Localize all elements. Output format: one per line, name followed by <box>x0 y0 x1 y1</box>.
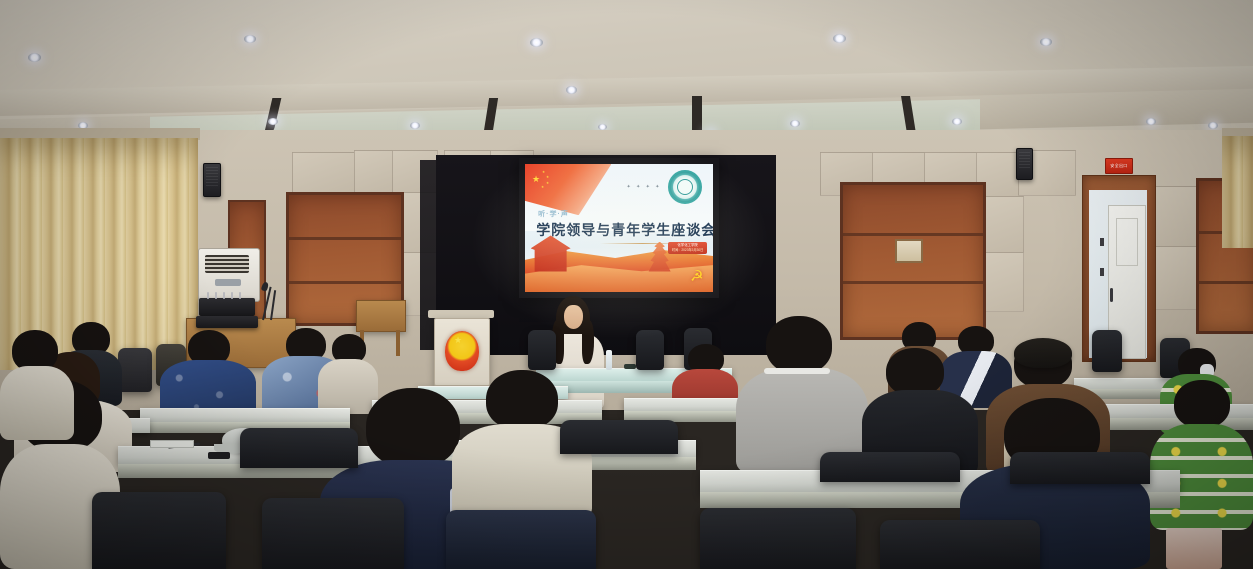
wall-panel-r5 <box>980 196 1024 254</box>
conference-room-photo: ★ ★ ★ ★ ★ ✦ ✦ ✦ ✦ 听·学·声 学院领导与青年学生座谈会 化学化… <box>0 0 1253 569</box>
exit-sign: 安全出口 <box>1105 158 1133 174</box>
downlight-3 <box>530 38 543 47</box>
hammer-sickle-icon: ☭ <box>690 269 703 284</box>
college-emblem-core <box>677 179 693 195</box>
wall-panel-l1 <box>292 152 356 194</box>
presenter-face <box>564 305 583 329</box>
flag-star-2: ★ <box>546 176 549 180</box>
college-emblem <box>668 170 702 204</box>
student-lv-jacket <box>160 330 256 420</box>
student-dark-fg-farleft-body <box>0 366 74 440</box>
tissue-box <box>1166 528 1222 569</box>
downlight-7 <box>268 118 278 125</box>
mixer-knob-3[interactable] <box>223 292 225 299</box>
projection-screen: ★ ★ ★ ★ ★ ✦ ✦ ✦ ✦ 听·学·声 学院领导与青年学生座谈会 化学化… <box>519 158 719 298</box>
foreground-chair-center[interactable] <box>262 498 404 569</box>
door-handle[interactable] <box>1110 288 1113 302</box>
student-grey-hoodie <box>736 316 868 474</box>
downlight-13 <box>952 118 962 125</box>
hoodie-collar-stripe <box>764 368 830 374</box>
stage-chair-1[interactable] <box>528 330 556 370</box>
downlight-4 <box>833 34 846 43</box>
flag-star-1: ★ <box>542 171 545 175</box>
ac-vent <box>205 255 249 273</box>
ac-display <box>215 279 241 286</box>
wall-speaker-right <box>1016 148 1033 180</box>
downlight-14 <box>1146 118 1156 125</box>
curtain-right <box>1222 136 1253 248</box>
wall-speaker-left <box>203 163 221 197</box>
presenter-hair-right-strand <box>582 320 594 364</box>
downlight-9 <box>566 86 577 94</box>
door-leaf-inset <box>1116 218 1138 266</box>
foreground-chair-center-right[interactable] <box>446 510 596 569</box>
mixer-knob-1[interactable] <box>207 292 209 299</box>
foreground-chair-far-right[interactable] <box>880 520 1040 569</box>
slide-title: 学院领导与青年学生座谈会 <box>536 220 713 240</box>
mixer-knob-4[interactable] <box>231 292 233 299</box>
presentation-slide: ★ ★ ★ ★ ★ ✦ ✦ ✦ ✦ 听·学·声 学院领导与青年学生座谈会 化学化… <box>525 164 713 292</box>
downlight-12 <box>790 120 800 127</box>
downlight-8 <box>410 122 420 129</box>
mid-chair-right[interactable] <box>1010 452 1150 484</box>
side-table <box>356 300 406 332</box>
downlight-5 <box>1040 38 1052 46</box>
slide-date-label: 时间：2023年3月30日 <box>672 248 704 253</box>
audio-mixer-console <box>199 298 255 316</box>
mid-chair-right-2[interactable] <box>820 452 960 482</box>
side-table-leg-right <box>396 330 400 356</box>
amplifier-unit <box>196 316 258 328</box>
student-cream-fg-head <box>486 370 558 430</box>
slide-info-badge: 化学化工学院 时间：2023年3月30日 <box>668 242 708 254</box>
student-black-jacket-head <box>886 348 944 396</box>
stage-chair-2[interactable] <box>636 330 664 370</box>
flag-star-big: ★ <box>532 175 540 184</box>
student-grey-hoodie-head <box>766 316 832 374</box>
student-green-hearts-head <box>1174 380 1230 428</box>
phone-on-desk[interactable] <box>208 452 230 459</box>
door-hinge-upper <box>1100 238 1104 246</box>
wall-outlet-plate <box>895 239 923 263</box>
flag-star-3: ★ <box>546 182 549 186</box>
foreground-chair-right[interactable] <box>700 508 856 569</box>
desk-row-back-left <box>140 408 350 423</box>
exit-sign-label: 安全出口 <box>1110 163 1127 169</box>
flag-star-4: ★ <box>541 186 544 190</box>
slide-subtitle: 听·学·声 <box>538 209 569 219</box>
downlight-1 <box>28 53 41 62</box>
wall-panel-r6 <box>980 252 1024 312</box>
mixer-knob-5[interactable] <box>239 292 241 299</box>
notebook-on-desk[interactable] <box>150 440 194 448</box>
student-navy-fg-center-head <box>366 388 460 468</box>
doves-icon: ✦ ✦ ✦ ✦ <box>627 184 662 190</box>
water-bottle <box>606 350 612 370</box>
downlight-2 <box>244 35 256 43</box>
student-dark-foreground-far-left <box>0 330 74 440</box>
mid-chair-center[interactable] <box>560 420 678 454</box>
door-hinge-lower <box>1100 268 1104 276</box>
desk-item-dark <box>624 364 636 369</box>
mid-chair-left[interactable] <box>240 428 358 468</box>
wall-panel-l2 <box>354 150 394 194</box>
podium-top <box>428 310 494 318</box>
beanie-hat <box>1014 338 1072 368</box>
mixer-knob-2[interactable] <box>215 292 217 299</box>
foreground-chair-left[interactable] <box>92 492 226 569</box>
downlight-15 <box>1208 122 1218 129</box>
cyl-emblem-star: ★ <box>454 336 462 345</box>
